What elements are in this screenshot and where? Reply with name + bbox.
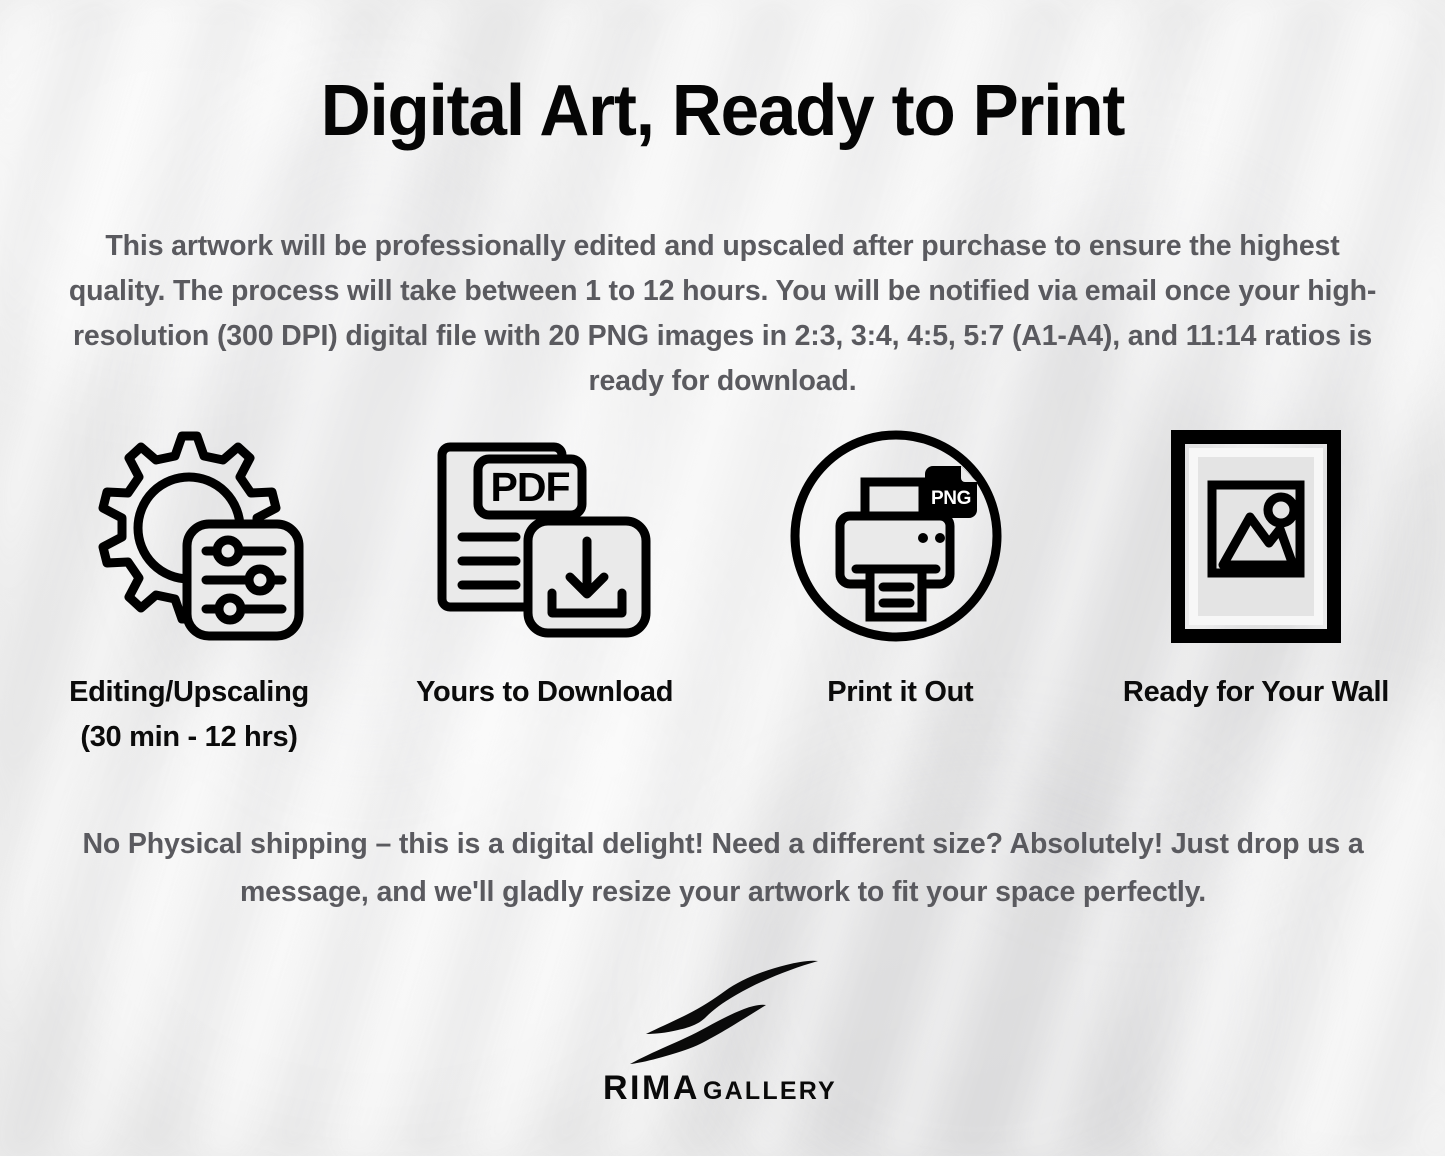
logo-wordmark: RIMA GALLERY bbox=[603, 1069, 843, 1109]
feature-yours-to-download: PDF Yours to Download bbox=[380, 420, 710, 715]
feature-editing-upscaling: Editing/Upscaling (30 min - 12 hrs) bbox=[24, 420, 354, 760]
feature-label: Editing/Upscaling (30 min - 12 hrs) bbox=[69, 670, 309, 760]
feature-row: Editing/Upscaling (30 min - 12 hrs) PDF bbox=[0, 420, 1445, 760]
outro-paragraph: No Physical shipping – this is a digital… bbox=[48, 820, 1398, 916]
logo-name-secondary: GALLERY bbox=[703, 1077, 837, 1105]
promo-graphic: Digital Art, Ready to Print This artwork… bbox=[0, 0, 1445, 1156]
rima-swoosh-mark bbox=[610, 955, 835, 1065]
printer-circle-icon: PNG bbox=[790, 420, 1010, 652]
page-title: Digital Art, Ready to Print bbox=[29, 74, 1416, 150]
gear-sliders-icon bbox=[73, 420, 305, 652]
svg-text:PNG: PNG bbox=[931, 488, 971, 509]
svg-text:PDF: PDF bbox=[490, 464, 569, 510]
brand-logo: RIMA GALLERY bbox=[0, 955, 1445, 1109]
feature-label: Yours to Download bbox=[416, 670, 673, 715]
feature-ready-for-wall: Ready for Your Wall bbox=[1091, 420, 1421, 715]
feature-print-it-out: PNG Print it Out bbox=[735, 420, 1065, 715]
pdf-download-icon: PDF bbox=[436, 420, 654, 652]
intro-paragraph: This artwork will be professionally edit… bbox=[60, 224, 1385, 404]
feature-label: Print it Out bbox=[827, 670, 973, 715]
feature-label: Ready for Your Wall bbox=[1123, 670, 1389, 715]
logo-name-primary: RIMA bbox=[603, 1069, 700, 1107]
framed-picture-icon bbox=[1170, 420, 1342, 652]
